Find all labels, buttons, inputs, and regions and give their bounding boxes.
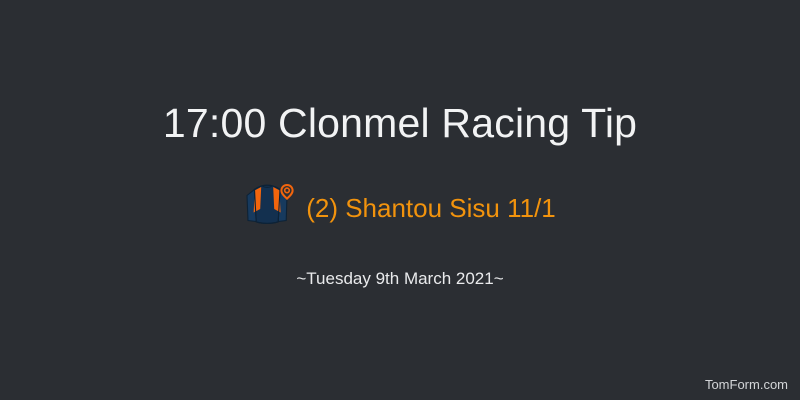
tip-selection-label: (2) Shantou Sisu 11/1 bbox=[306, 193, 556, 223]
title-row: 17:00 Clonmel Racing Tip bbox=[0, 98, 800, 148]
racing-tip-card: 17:00 Clonmel Racing Tip (2) Shantou Sis… bbox=[0, 0, 800, 400]
watermark: TomForm.com bbox=[705, 377, 788, 393]
page-title: 17:00 Clonmel Racing Tip bbox=[163, 98, 637, 148]
race-date: ~Tuesday 9th March 2021~ bbox=[296, 268, 503, 290]
date-row: ~Tuesday 9th March 2021~ bbox=[0, 268, 800, 290]
tip-row: (2) Shantou Sisu 11/1 bbox=[0, 182, 800, 234]
jockey-silk-icon bbox=[244, 182, 294, 234]
